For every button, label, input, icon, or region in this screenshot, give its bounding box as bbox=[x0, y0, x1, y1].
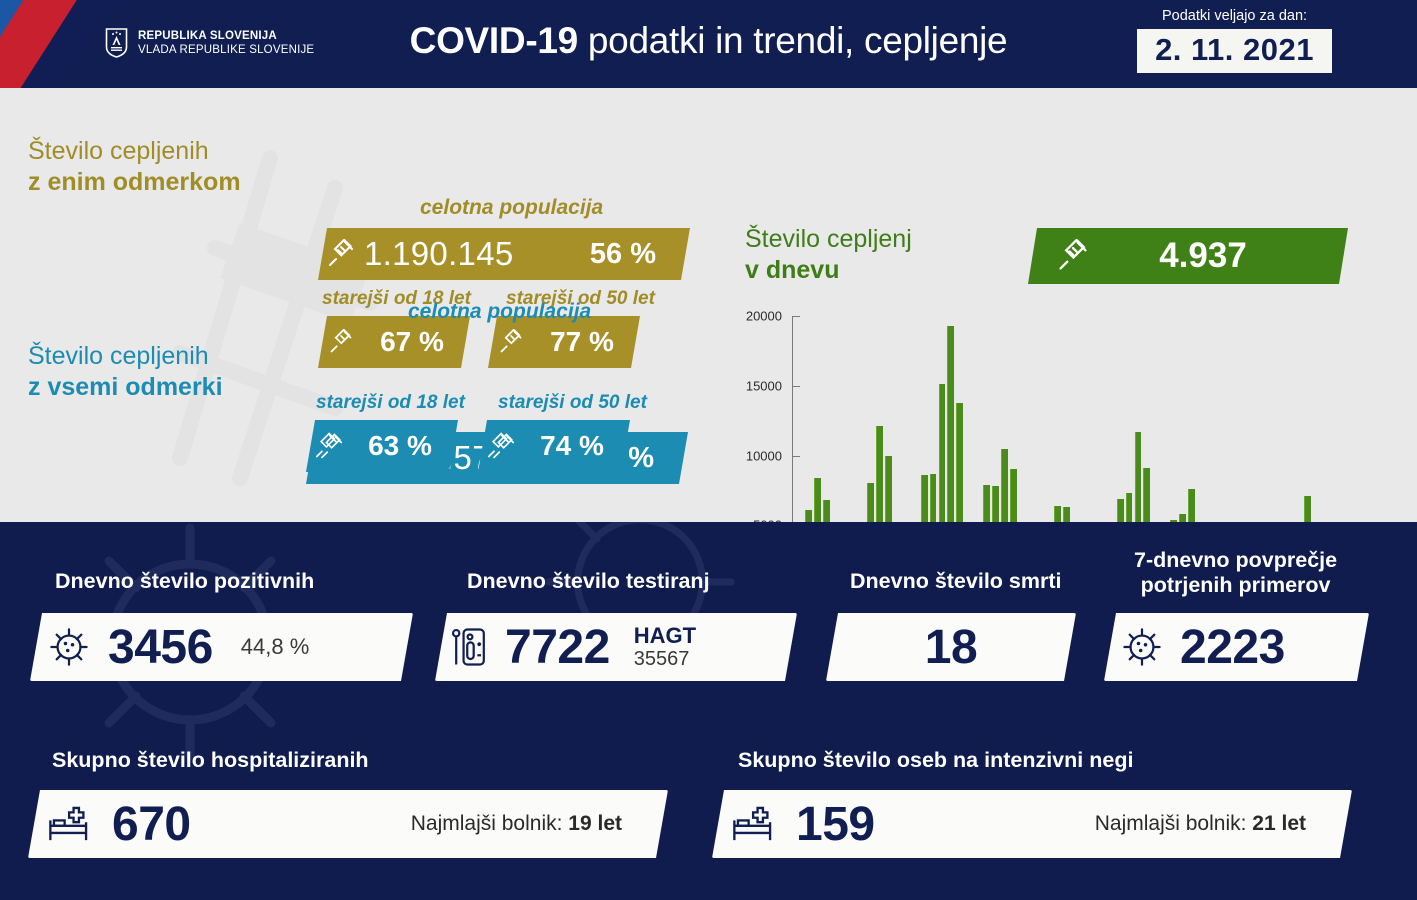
chart-y-axis-line bbox=[792, 316, 793, 522]
icu-value: 159 bbox=[796, 797, 875, 852]
hospitalized-value: 670 bbox=[112, 797, 191, 852]
infographic-page: REPUBLIKA SLOVENIJA VLADA REPUBLIKE SLOV… bbox=[0, 0, 1417, 900]
daily-vaccination-title-line1: Število cepljenj bbox=[745, 224, 912, 255]
all-doses-group-50-chip: 74 % bbox=[478, 420, 630, 472]
chart-bar bbox=[885, 456, 892, 523]
chart-bar bbox=[1126, 493, 1133, 522]
positives-card: 3456 44,8 % bbox=[30, 613, 413, 681]
deaths-heading: Dnevno število smrti bbox=[850, 569, 1061, 594]
virus-icon bbox=[1104, 625, 1180, 669]
hospitalized-youngest: Najmlajši bolnik: 19 let bbox=[411, 812, 622, 836]
one-dose-group-50-percent: 77 % bbox=[534, 326, 640, 358]
daily-vaccination-title-line2: v dnevu bbox=[745, 255, 912, 286]
hospitalized-heading: Skupno število hospitaliziranih bbox=[52, 748, 369, 773]
vaccination-section: Število cepljenih z enim odmerkom celotn… bbox=[0, 88, 1417, 522]
chart-bar bbox=[1010, 469, 1017, 522]
double-syringe-icon bbox=[478, 432, 524, 460]
all-doses-title-line2: z vsemi odmerki bbox=[28, 372, 223, 403]
chart-bars bbox=[796, 316, 1388, 522]
one-dose-title-line2: z enim odmerkom bbox=[28, 167, 241, 198]
positives-heading: Dnevno število pozitivnih bbox=[55, 569, 314, 594]
daily-vaccination-value: 4.937 bbox=[1118, 236, 1348, 276]
chart-bar bbox=[823, 500, 830, 522]
tests-hagt: HAGT 35567 bbox=[634, 624, 696, 670]
page-header: REPUBLIKA SLOVENIJA VLADA REPUBLIKE SLOV… bbox=[0, 0, 1417, 88]
hospitalized-youngest-value: 19 let bbox=[568, 812, 622, 835]
average-value: 2223 bbox=[1180, 620, 1285, 675]
hospitalized-card: 670 Najmlajši bolnik: 19 let bbox=[28, 790, 668, 858]
chart-y-tick-label: 20000 bbox=[746, 309, 782, 324]
chart-bar bbox=[805, 510, 812, 522]
hospital-bed-icon bbox=[712, 802, 796, 846]
page-title-light: podatki in trendi, cepljenje bbox=[588, 20, 1007, 61]
average-heading-line2: potrjenih primerov bbox=[1134, 573, 1337, 598]
syringe-icon bbox=[318, 239, 364, 269]
syringe-icon bbox=[488, 329, 534, 355]
date-value: 2. 11. 2021 bbox=[1137, 29, 1332, 73]
daily-vaccination-chip: 4.937 bbox=[1028, 228, 1348, 284]
chart-bar bbox=[983, 485, 990, 522]
icu-card: 159 Najmlajši bolnik: 21 let bbox=[712, 790, 1352, 858]
chart-bar bbox=[1188, 489, 1195, 522]
one-dose-group-18-percent: 67 % bbox=[364, 326, 470, 358]
chart-bar bbox=[867, 483, 874, 522]
chart-bar bbox=[876, 426, 883, 522]
daily-vaccination-chart: 05000100001500020000 bbox=[750, 316, 1390, 522]
test-kit-icon bbox=[435, 624, 505, 670]
chart-bar bbox=[814, 478, 821, 522]
tests-value: 7722 bbox=[505, 620, 610, 675]
all-doses-total-caption: celotna populacija bbox=[408, 300, 591, 324]
chart-bar bbox=[930, 474, 937, 522]
chart-bar bbox=[1304, 496, 1311, 522]
one-dose-title: Število cepljenih z enim odmerkom bbox=[28, 136, 241, 199]
date-label: Podatki veljajo za dan: bbox=[1137, 8, 1332, 24]
tests-heading: Dnevno število testiranj bbox=[467, 569, 710, 594]
icu-youngest: Najmlajši bolnik: 21 let bbox=[1095, 812, 1306, 836]
tests-hagt-value: 35567 bbox=[634, 648, 696, 670]
one-dose-total-value: 1.190.145 bbox=[364, 235, 590, 273]
one-dose-total-percent: 56 % bbox=[590, 238, 690, 271]
chart-bar bbox=[1143, 468, 1150, 522]
chart-bar bbox=[939, 384, 946, 522]
tests-hagt-label: HAGT bbox=[634, 624, 696, 648]
chart-bar bbox=[1179, 514, 1186, 522]
hospitalized-youngest-label: Najmlajši bolnik: bbox=[411, 812, 563, 835]
all-doses-group-18-chip: 63 % bbox=[306, 420, 458, 472]
syringe-icon bbox=[1028, 239, 1118, 273]
average-card: 2223 bbox=[1104, 613, 1369, 681]
tests-card: 7722 HAGT 35567 bbox=[435, 613, 797, 681]
average-heading-line1: 7-dnevno povprečje bbox=[1134, 548, 1337, 573]
icu-youngest-label: Najmlajši bolnik: bbox=[1095, 812, 1247, 835]
statistics-section: Dnevno število pozitivnih 3456 44 bbox=[0, 522, 1417, 900]
icu-youngest-value: 21 let bbox=[1252, 812, 1306, 835]
chart-y-tick-label: 15000 bbox=[746, 378, 782, 393]
virus-icon bbox=[30, 625, 108, 669]
icu-heading: Skupno število oseb na intenzivni negi bbox=[738, 748, 1133, 773]
positives-value: 3456 bbox=[108, 620, 213, 675]
chart-bar bbox=[992, 486, 999, 522]
all-doses-title: Število cepljenih z vsemi odmerki bbox=[28, 341, 223, 404]
chart-bar bbox=[1135, 432, 1142, 522]
average-heading: 7-dnevno povprečje potrjenih primerov bbox=[1134, 548, 1337, 599]
all-doses-group-18-percent: 63 % bbox=[352, 430, 458, 462]
page-title-strong: COVID-19 bbox=[410, 20, 578, 61]
chart-bar bbox=[921, 475, 928, 522]
report-date: Podatki veljajo za dan: 2. 11. 2021 bbox=[1137, 8, 1332, 73]
chart-bar bbox=[1117, 499, 1124, 522]
all-doses-group-18-caption: starejši od 18 let bbox=[316, 392, 465, 414]
hospital-bed-icon bbox=[28, 802, 112, 846]
chart-bar bbox=[947, 326, 954, 522]
all-doses-group-50-caption: starejši od 50 let bbox=[498, 392, 647, 414]
deaths-card: 18 bbox=[826, 613, 1076, 681]
chart-bar bbox=[1063, 507, 1070, 522]
one-dose-total-caption: celotna populacija bbox=[420, 196, 603, 220]
chart-y-tick-label: 10000 bbox=[746, 448, 782, 463]
one-dose-title-line1: Število cepljenih bbox=[28, 136, 241, 167]
syringe-icon bbox=[318, 329, 364, 355]
chart-bar bbox=[1001, 449, 1008, 522]
chart-bar bbox=[1054, 506, 1061, 522]
one-dose-total-chip: 1.190.145 56 % bbox=[318, 228, 690, 280]
double-syringe-icon bbox=[306, 432, 352, 460]
all-doses-title-line1: Število cepljenih bbox=[28, 341, 223, 372]
positives-rate: 44,8 % bbox=[241, 634, 310, 660]
deaths-value: 18 bbox=[925, 620, 977, 675]
daily-vaccination-title: Število cepljenj v dnevu bbox=[745, 224, 912, 287]
all-doses-group-50-percent: 74 % bbox=[524, 430, 630, 462]
chart-bar bbox=[956, 403, 963, 523]
